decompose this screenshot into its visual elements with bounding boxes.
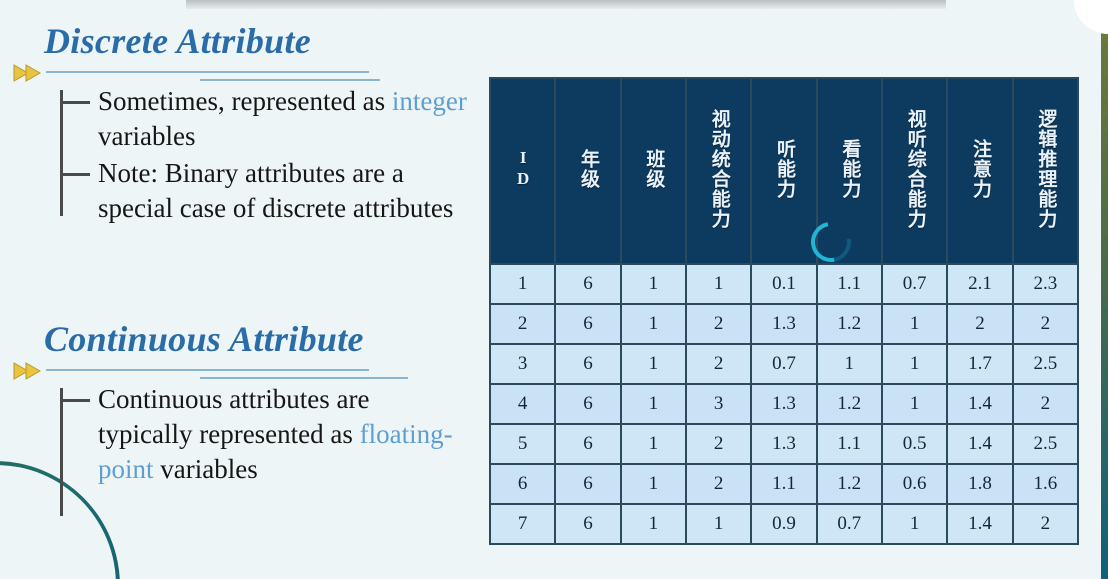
table-cell: 1 (882, 504, 947, 544)
table-cell: 0.7 (751, 344, 816, 384)
table-cell: 0.6 (882, 464, 947, 504)
table-cell: 1.2 (817, 464, 882, 504)
table-cell: 2 (1013, 504, 1078, 544)
table-cell: 6 (555, 344, 620, 384)
corner-cut-top-right (1074, 0, 1108, 34)
table-cell: 2 (1013, 304, 1078, 344)
table-cell: 1.2 (817, 304, 882, 344)
table-row: 36120.7111.72.5 (490, 344, 1078, 384)
column-header-class: 班级 (621, 78, 686, 264)
table-cell: 2 (686, 424, 751, 464)
table-cell: 1.3 (751, 384, 816, 424)
column-header-logic: 逻辑推理能力 (1013, 78, 1078, 264)
keyword-integer: integer (392, 86, 467, 116)
table-cell: 1.1 (817, 264, 882, 304)
bullet-tree-discrete: Sometimes, represented as integer variab… (60, 84, 470, 226)
table-cell: 1.8 (947, 464, 1012, 504)
column-header-label: 年级 (578, 149, 598, 189)
slide-canvas: Discrete Attribute Sometimes, represente… (0, 0, 1108, 579)
table-row: 66121.11.20.61.81.6 (490, 464, 1078, 504)
table-cell: 1 (621, 384, 686, 424)
table-cell: 2.5 (1013, 424, 1078, 464)
tree-branch-tick (60, 173, 90, 176)
bullet-text-part: Continuous attributes are typically repr… (98, 384, 369, 449)
table-cell: 5 (490, 424, 555, 464)
column-header-label: 逻辑推理能力 (1035, 109, 1055, 229)
bullet-tree-continuous: Continuous attributes are typically repr… (60, 382, 470, 487)
table-cell: 3 (490, 344, 555, 384)
table-cell: 1 (621, 264, 686, 304)
bullet-text-part: variables (98, 121, 195, 151)
table-header-row: ID 年级 班级 视动统合能力 听能力 看能力 视听综合能力 注意力 逻辑推理能… (490, 78, 1078, 264)
table-cell: 4 (490, 384, 555, 424)
table-cell: 6 (555, 504, 620, 544)
table-cell: 1 (621, 304, 686, 344)
double-chevron-right-icon (12, 63, 52, 83)
table-cell: 1.1 (817, 424, 882, 464)
table-cell: 1.6 (1013, 464, 1078, 504)
table-cell: 2 (686, 464, 751, 504)
section-heading-continuous: Continuous Attribute (44, 318, 470, 360)
table-cell: 0.7 (817, 504, 882, 544)
assessment-data-table: ID 年级 班级 视动统合能力 听能力 看能力 视听综合能力 注意力 逻辑推理能… (489, 77, 1079, 545)
table-row: 16110.11.10.72.12.3 (490, 264, 1078, 304)
table-cell: 1.7 (947, 344, 1012, 384)
table-cell: 3 (686, 384, 751, 424)
table-cell: 1.2 (817, 384, 882, 424)
rule-line-upper (46, 369, 369, 371)
table-cell: 1.4 (947, 424, 1012, 464)
table-row: 76110.90.711.42 (490, 504, 1078, 544)
table-cell: 6 (555, 304, 620, 344)
table-cell: 1 (490, 264, 555, 304)
top-gray-bar (186, 0, 946, 9)
section-heading-discrete: Discrete Attribute (44, 20, 470, 62)
column-header-label: 看能力 (839, 139, 859, 199)
bullet-text-part: Sometimes, represented as (98, 86, 392, 116)
table-cell: 2.5 (1013, 344, 1078, 384)
column-header-label: 视动统合能力 (709, 109, 729, 229)
bullet-item: Note: Binary attributes are a special ca… (98, 156, 470, 226)
tree-branch-tick (60, 101, 90, 104)
table-cell: 1.3 (751, 424, 816, 464)
bullet-item: Sometimes, represented as integer variab… (98, 84, 470, 154)
table-row: 56121.31.10.51.42.5 (490, 424, 1078, 464)
table-cell: 1 (621, 504, 686, 544)
table-cell: 1 (882, 384, 947, 424)
column-header-grade: 年级 (555, 78, 620, 264)
section-discrete-attribute: Discrete Attribute Sometimes, represente… (0, 20, 470, 226)
table-cell: 1 (621, 344, 686, 384)
table-cell: 2 (686, 344, 751, 384)
table-cell: 1 (621, 424, 686, 464)
column-header-label: ID (514, 148, 532, 190)
table-cell: 2 (686, 304, 751, 344)
column-header-visual-motor: 视动统合能力 (686, 78, 751, 264)
table-cell: 2 (490, 304, 555, 344)
heading-rule-continuous (0, 360, 470, 382)
table-cell: 7 (490, 504, 555, 544)
table-cell: 1 (621, 464, 686, 504)
bullet-text-part: variables (154, 454, 258, 484)
table-cell: 2 (1013, 384, 1078, 424)
table-cell: 1 (686, 264, 751, 304)
table-cell: 1 (686, 504, 751, 544)
table-cell: 6 (555, 384, 620, 424)
table-cell: 1.3 (751, 304, 816, 344)
table-cell: 1.1 (751, 464, 816, 504)
table-row: 46131.31.211.42 (490, 384, 1078, 424)
bullet-item: Continuous attributes are typically repr… (98, 382, 470, 487)
table-cell: 1.4 (947, 384, 1012, 424)
table-cell: 0.5 (882, 424, 947, 464)
column-header-label: 视听综合能力 (905, 109, 925, 229)
table-cell: 1 (882, 344, 947, 384)
column-header-label: 班级 (643, 149, 663, 189)
table-cell: 0.7 (882, 264, 947, 304)
rule-line-lower (200, 377, 408, 379)
table-cell: 0.1 (751, 264, 816, 304)
rule-line-lower (200, 79, 380, 81)
table-cell: 1 (882, 304, 947, 344)
column-header-attention: 注意力 (947, 78, 1012, 264)
table-cell: 6 (555, 464, 620, 504)
section-continuous-attribute: Continuous Attribute Continuous attribut… (0, 318, 470, 487)
table-cell: 1.4 (947, 504, 1012, 544)
rule-line-upper (46, 71, 369, 73)
column-header-audiovisual: 视听综合能力 (882, 78, 947, 264)
table-cell: 6 (555, 424, 620, 464)
column-header-label: 注意力 (970, 139, 990, 199)
table-cell: 2.1 (947, 264, 1012, 304)
column-header-listening: 听能力 (751, 78, 816, 264)
heading-rule-discrete (0, 62, 470, 84)
bullet-text-part: Note: Binary attributes are a special ca… (98, 158, 453, 223)
tree-spine (60, 90, 63, 216)
column-header-id: ID (490, 78, 555, 264)
table-cell: 1 (817, 344, 882, 384)
double-chevron-right-icon (12, 361, 52, 381)
table-row: 26121.31.2122 (490, 304, 1078, 344)
table-cell: 6 (555, 264, 620, 304)
tree-spine (60, 388, 63, 516)
table-cell: 2 (947, 304, 1012, 344)
table-cell: 0.9 (751, 504, 816, 544)
tree-branch-tick (60, 399, 90, 402)
slide-frame-right-edge (1101, 0, 1108, 579)
table-cell: 6 (490, 464, 555, 504)
table-cell: 2.3 (1013, 264, 1078, 304)
column-header-label: 听能力 (774, 139, 794, 199)
